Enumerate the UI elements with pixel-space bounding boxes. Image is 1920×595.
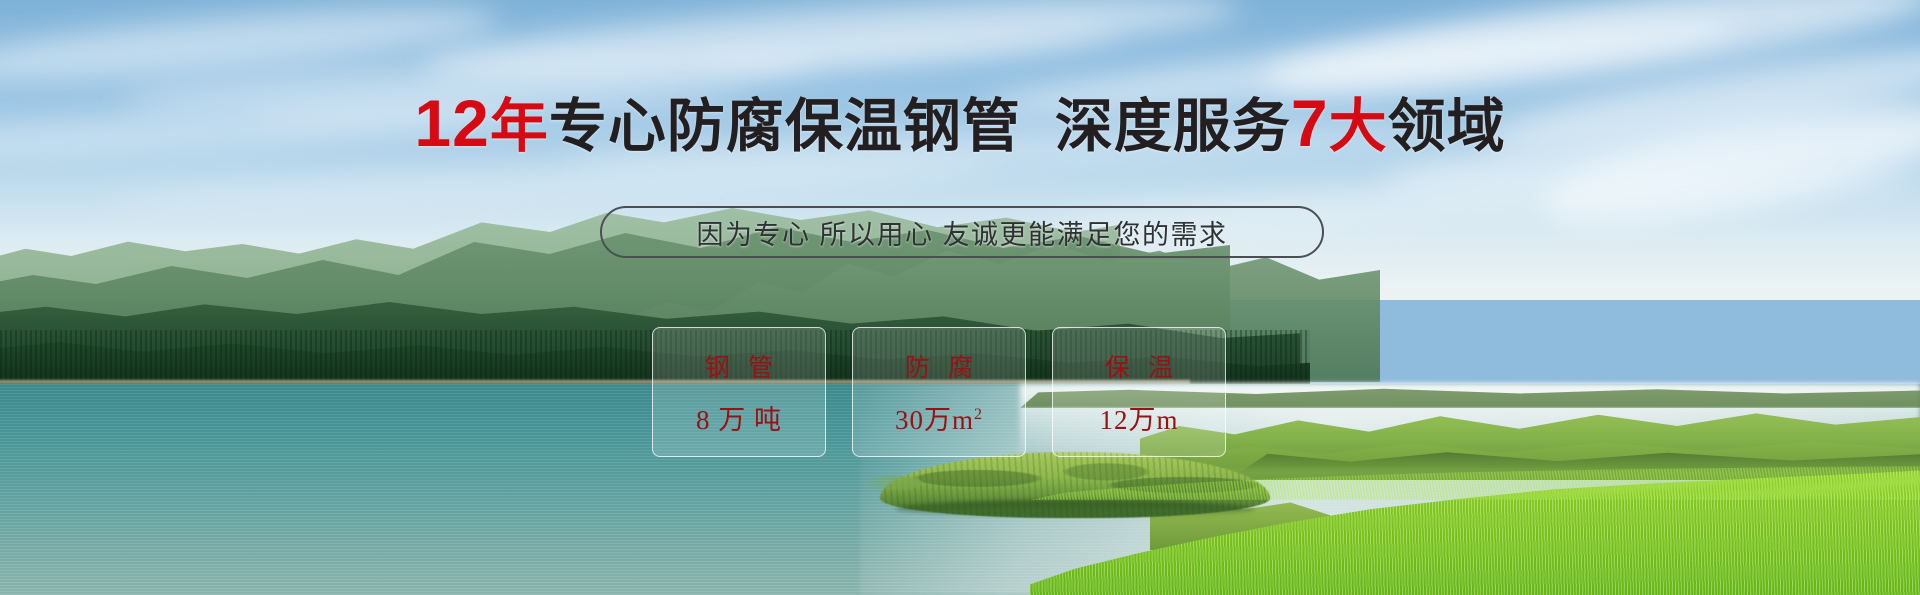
- stat-card-insulation[interactable]: 保 温 12万m: [1052, 327, 1226, 457]
- headline-years-unit: 年: [490, 94, 549, 159]
- subtitle-text: 因为专心 所以用心 友诚更能满足您的需求: [696, 213, 1227, 252]
- stat-card-unit-exponent: 2: [974, 406, 983, 423]
- stat-card-label: 防 腐: [899, 348, 979, 384]
- stat-card-value: 12万m: [1099, 398, 1178, 437]
- headline-main-text: 专心防腐保温钢管: [549, 94, 1021, 159]
- promo-banner: 12年专心防腐保温钢管深度服务7大领域 因为专心 所以用心 友诚更能满足您的需求…: [0, 0, 1920, 595]
- island-tip: [862, 476, 922, 490]
- banner-headline: 12年专心防腐保温钢管深度服务7大领域: [0, 92, 1920, 158]
- stat-card-value: 30万m2: [895, 398, 983, 437]
- stat-card-label: 钢 管: [699, 348, 779, 384]
- stat-card-label: 保 温: [1099, 348, 1179, 384]
- stat-card-value: 8 万 吨: [696, 398, 782, 437]
- headline-fields-unit: 大: [1329, 94, 1388, 159]
- stat-card-anticorrosion[interactable]: 防 腐 30万m2: [852, 327, 1026, 457]
- island-waterline: [895, 500, 1255, 518]
- headline-fields-number: 7: [1291, 86, 1329, 160]
- stat-card-group: 钢 管 8 万 吨 防 腐 30万m2 保 温 12万m: [652, 327, 1226, 457]
- headline-years-number: 12: [414, 86, 489, 160]
- headline-fields-text: 领域: [1388, 94, 1506, 159]
- stat-card-steel-pipe[interactable]: 钢 管 8 万 吨: [652, 327, 826, 457]
- subtitle-pill: 因为专心 所以用心 友诚更能满足您的需求: [600, 206, 1324, 258]
- headline-service-text: 深度服务: [1055, 94, 1291, 159]
